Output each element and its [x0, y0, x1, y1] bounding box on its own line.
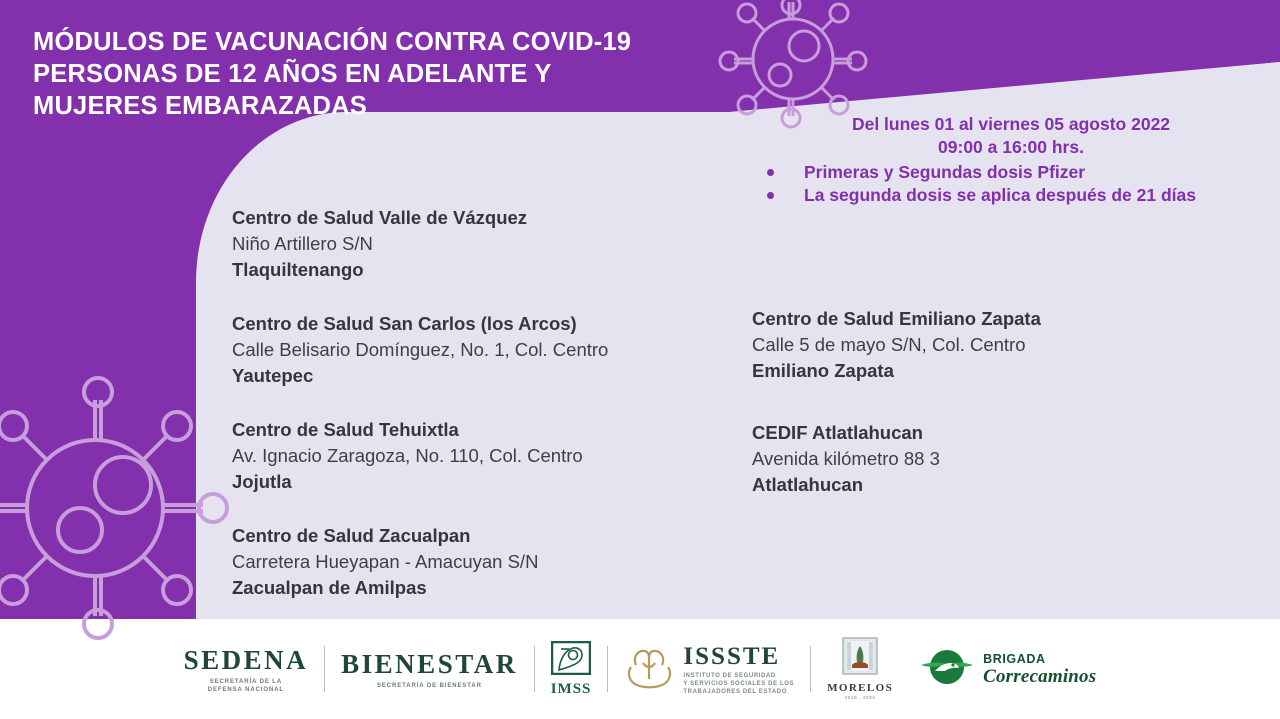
schedule-bullet-item: Primeras y Segundas dosis Pfizer [742, 161, 1280, 184]
sedena-subtitle-line2: DEFENSA NACIONAL [208, 686, 284, 694]
imss-emblem-icon [551, 641, 591, 680]
title-line-3: MUJERES EMBARAZADAS [33, 90, 733, 122]
bienestar-wordmark: BIENESTAR [341, 649, 518, 679]
bullet-dot-icon [767, 192, 774, 199]
location-name: Centro de Salud San Carlos (los Arcos) [232, 311, 712, 337]
location-town: Jojutla [232, 469, 712, 495]
location-address: Av. Ignacio Zaragoza, No. 110, Col. Cent… [232, 443, 712, 469]
schedule-bullet-text: Primeras y Segundas dosis Pfizer [804, 161, 1085, 184]
issste-wordmark: ISSSTE [683, 643, 780, 670]
roadrunner-icon [919, 647, 975, 692]
logo-brigada-correcaminos: BRIGADA Correcaminos [919, 647, 1096, 692]
title-line-2: PERSONAS DE 12 AÑOS EN ADELANTE Y [33, 58, 733, 90]
location-name: CEDIF Atlatlahucan [752, 420, 1212, 446]
location-entry: Centro de Salud Valle de Vázquez Niño Ar… [232, 205, 712, 283]
schedule-date-range: Del lunes 01 al viernes 05 agosto 2022 [742, 113, 1280, 136]
location-town: Tlaquiltenango [232, 257, 712, 283]
location-name: Centro de Salud Emiliano Zapata [752, 306, 1212, 332]
vaccination-poster: MÓDULOS DE VACUNACIÓN CONTRA COVID-19 PE… [0, 0, 1280, 719]
location-entry: Centro de Salud Tehuixtla Av. Ignacio Za… [232, 417, 712, 495]
brigada-line2: Correcaminos [983, 666, 1096, 687]
location-address: Niño Artillero S/N [232, 231, 712, 257]
location-list-left: Centro de Salud Valle de Vázquez Niño Ar… [232, 205, 712, 601]
location-entry: Centro de Salud Emiliano Zapata Calle 5 … [752, 306, 1212, 384]
location-town: Yautepec [232, 363, 712, 389]
footer-logo-strip: SEDENA SECRETARÍA DE LA DEFENSA NACIONAL… [0, 619, 1280, 719]
morelos-crest-icon [842, 637, 878, 680]
location-name: Centro de Salud Zacualpan [232, 523, 712, 549]
location-town: Zacualpan de Amilpas [232, 575, 712, 601]
schedule-bullet-text: La segunda dosis se aplica después de 21… [804, 184, 1196, 207]
location-entry: CEDIF Atlatlahucan Avenida kilómetro 88 … [752, 420, 1212, 498]
issste-subtitle-line2: Y SERVICIOS SOCIALES DE LOS [683, 680, 794, 688]
logo-morelos: MORELOS 2019 · 2024 [827, 637, 893, 701]
schedule-hours: 09:00 a 16:00 hrs. [742, 136, 1280, 159]
schedule-block: Del lunes 01 al viernes 05 agosto 2022 0… [742, 113, 1280, 207]
title-line-1: MÓDULOS DE VACUNACIÓN CONTRA COVID-19 [33, 26, 733, 58]
logo-divider [324, 646, 325, 692]
brigada-line1: BRIGADA [983, 652, 1046, 666]
logo-bienestar: BIENESTAR SECRETARÍA DE BIENESTAR [341, 649, 518, 690]
location-name: Centro de Salud Tehuixtla [232, 417, 712, 443]
morelos-wordmark: MORELOS [827, 682, 893, 694]
issste-emblem-icon [624, 645, 674, 694]
imss-wordmark: IMSS [551, 681, 592, 697]
logo-divider [810, 646, 811, 692]
location-list-right: Centro de Salud Emiliano Zapata Calle 5 … [752, 306, 1212, 498]
bienestar-subtitle: SECRETARÍA DE BIENESTAR [377, 682, 482, 690]
poster-title: MÓDULOS DE VACUNACIÓN CONTRA COVID-19 PE… [33, 26, 733, 122]
logo-sedena: SEDENA SECRETARÍA DE LA DEFENSA NACIONAL [184, 645, 309, 694]
location-address: Carretera Hueyapan - Amacuyan S/N [232, 549, 712, 575]
location-town: Emiliano Zapata [752, 358, 1212, 384]
sedena-wordmark: SEDENA [184, 645, 309, 675]
location-address: Avenida kilómetro 88 3 [752, 446, 1212, 472]
location-address: Calle 5 de mayo S/N, Col. Centro [752, 332, 1212, 358]
logo-issste: ISSSTE INSTITUTO DE SEGURIDAD Y SERVICIO… [624, 643, 794, 696]
bullet-dot-icon [767, 169, 774, 176]
issste-subtitle-line1: INSTITUTO DE SEGURIDAD [683, 672, 794, 680]
logo-imss: IMSS [551, 641, 592, 697]
schedule-bullet-list: Primeras y Segundas dosis Pfizer La segu… [742, 161, 1280, 207]
sedena-subtitle-line1: SECRETARÍA DE LA [208, 678, 284, 686]
location-town: Atlatlahucan [752, 472, 1212, 498]
location-entry: Centro de Salud San Carlos (los Arcos) C… [232, 311, 712, 389]
logo-divider [607, 646, 608, 692]
schedule-bullet-item: La segunda dosis se aplica después de 21… [742, 184, 1280, 207]
issste-subtitle-line3: TRABAJADORES DEL ESTADO [683, 688, 794, 696]
logo-divider [534, 646, 535, 692]
morelos-subtitle: 2019 · 2024 [845, 695, 876, 701]
location-name: Centro de Salud Valle de Vázquez [232, 205, 712, 231]
location-entry: Centro de Salud Zacualpan Carretera Huey… [232, 523, 712, 601]
location-address: Calle Belisario Domínguez, No. 1, Col. C… [232, 337, 712, 363]
